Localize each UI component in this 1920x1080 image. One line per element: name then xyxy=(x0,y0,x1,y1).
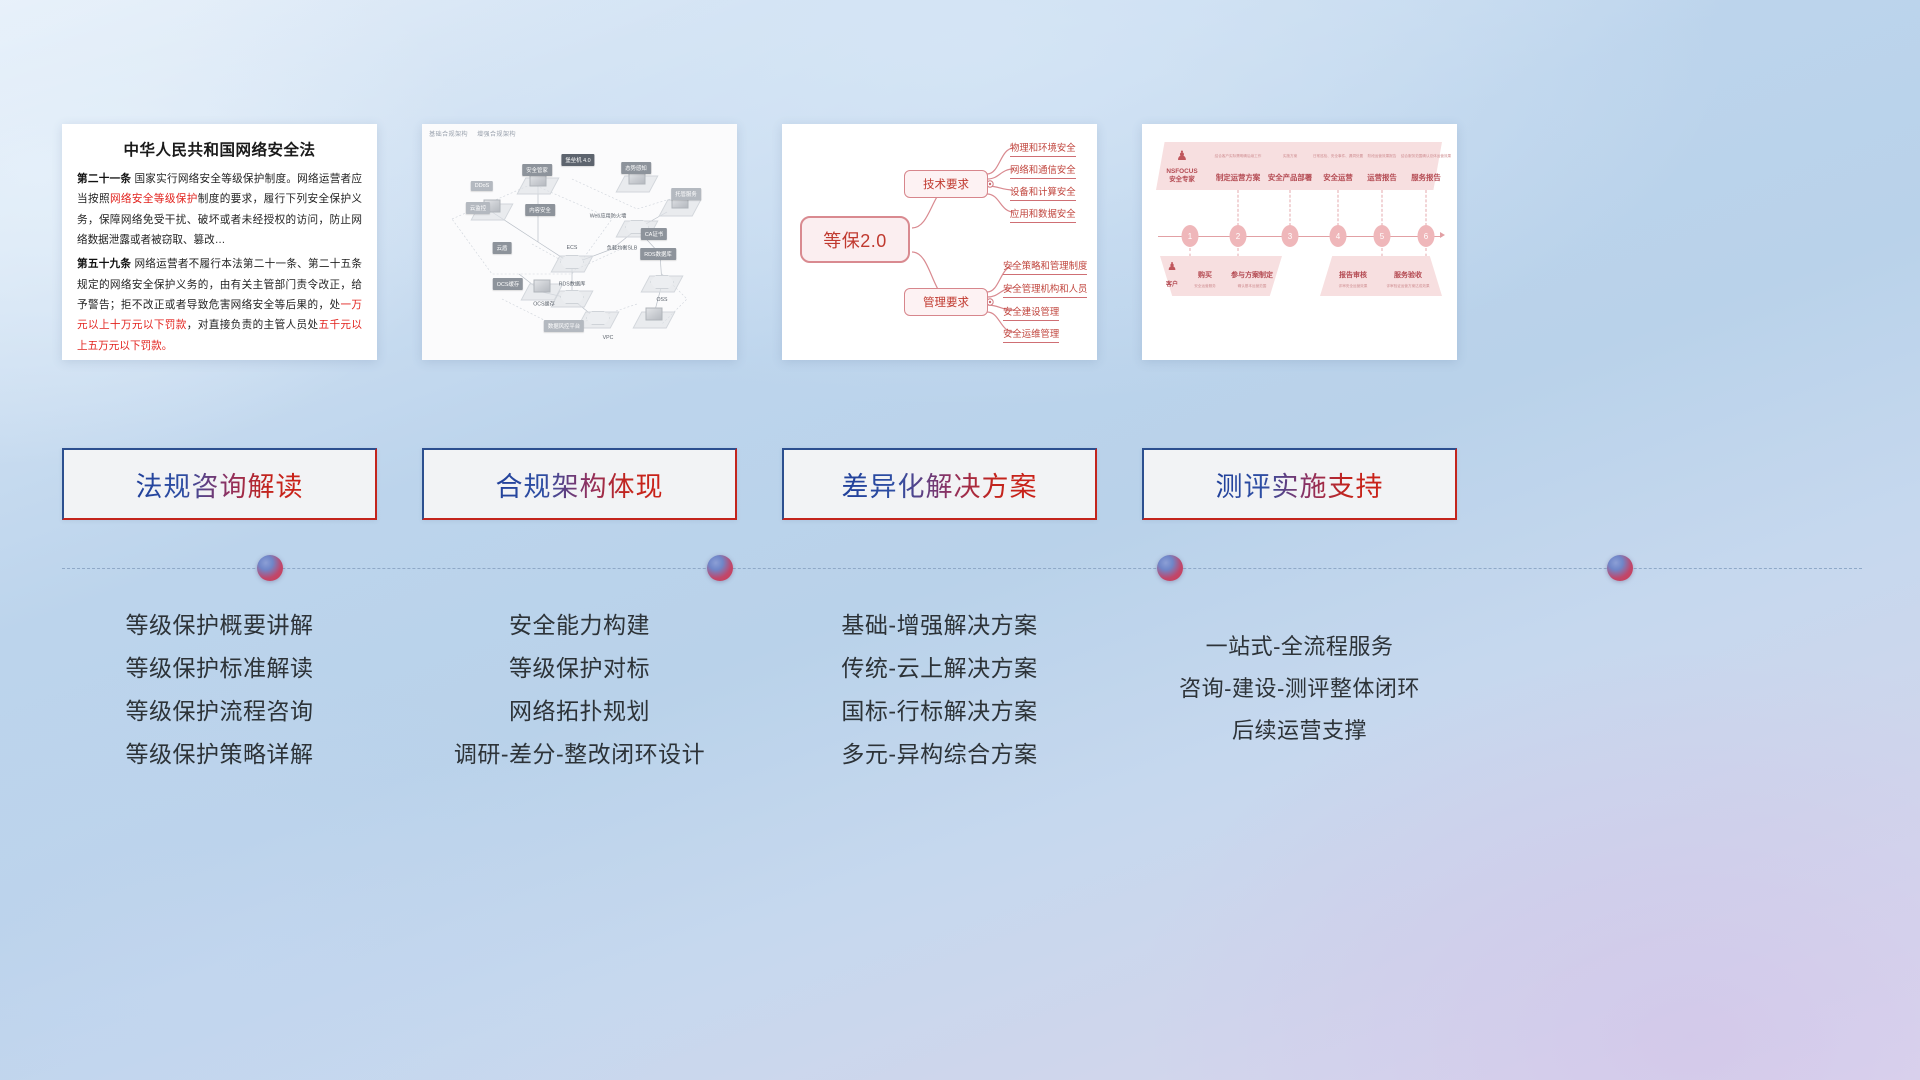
list-item: 等级保护流程咨询 xyxy=(62,690,377,733)
list-item: 基础-增强解决方案 xyxy=(782,604,1097,647)
mindmap-leaf: 安全运维管理 xyxy=(1003,326,1059,343)
list-item: 咨询-建设-测评整体闭环 xyxy=(1142,668,1457,710)
arch-label: Web应用防火墙 xyxy=(590,213,627,220)
step-connector xyxy=(1338,190,1339,226)
customer-step-main: 参与方案制定 xyxy=(1231,270,1273,280)
list-item: 安全能力构建 xyxy=(422,604,737,647)
arch-label: OCS缓存 xyxy=(533,301,555,308)
arch-label: VPC xyxy=(603,335,614,341)
step-connector xyxy=(1382,190,1383,226)
list-item: 国标-行标解决方案 xyxy=(782,690,1097,733)
arch-node: 态势感知 xyxy=(621,162,651,174)
arch-node: 堡垒机 4.0 xyxy=(561,154,594,166)
arch-node: 托管服务 xyxy=(671,188,701,200)
column-differentiated-solution: 基础-增强解决方案 传统-云上解决方案 国标-行标解决方案 多元-异构综合方案 xyxy=(782,604,1097,776)
mindmap-leaf: 设备和计算安全 xyxy=(1010,184,1076,201)
list-item: 调研-差分-整改闭环设计 xyxy=(422,733,737,776)
headline-label: 合规架构体现 xyxy=(496,465,664,504)
arch-cube-icon xyxy=(534,280,551,293)
card-law-text[interactable]: 中华人民共和国网络安全法 第二十一条 国家实行网络安全等级保护制度。网络运营者应… xyxy=(62,124,377,360)
step-main: 运营报告 xyxy=(1367,172,1397,183)
mindmap-leaf: 安全建设管理 xyxy=(1003,304,1059,321)
arch-label: 负载均衡SLB xyxy=(607,245,638,252)
step-main: 服务报告 xyxy=(1411,172,1441,183)
timeline-step-dot[interactable]: 1 xyxy=(1182,225,1199,247)
list-item: 后续运营支撑 xyxy=(1142,710,1457,752)
mindmap-leaf: 应用和数据安全 xyxy=(1010,206,1076,223)
customer-step-sub: 评审安全运营效果 xyxy=(1339,284,1368,289)
customer-step-main: 报告审核 xyxy=(1339,270,1367,280)
law-title: 中华人民共和国网络安全法 xyxy=(77,138,362,160)
arch-label: ECS xyxy=(567,245,578,251)
list-item: 等级保护策略详解 xyxy=(62,733,377,776)
slide-canvas: 中华人民共和国网络安全法 第二十一条 国家实行网络安全等级保护制度。网络运营者应… xyxy=(0,0,1920,1080)
step-main: 制定运营方案 xyxy=(1216,172,1260,183)
step-sub: 结合客户实际需明确后续工作 xyxy=(1215,154,1262,159)
arch-canvas: 堡垒机 4.0 安全管家 DDoS 云监控 态势感知 托管服务 内容安全 云盾 … xyxy=(422,124,737,360)
headline-box-regulation-consulting[interactable]: 法规咨询解读 xyxy=(62,448,377,520)
customer-step-sub: 安全运营服务 xyxy=(1194,284,1216,289)
customer-step-main: 服务验收 xyxy=(1394,270,1422,280)
list-item: 网络拓扑规划 xyxy=(422,690,737,733)
customer-step-main: 购买 xyxy=(1198,270,1212,280)
timeline-axis xyxy=(1158,236,1442,237)
arch-node: CA证书 xyxy=(641,228,667,240)
customer-label: 客户 xyxy=(1166,282,1178,290)
list-item: 等级保护标准解读 xyxy=(62,647,377,690)
column-assessment-support: 一站式-全流程服务 咨询-建设-测评整体闭环 后续运营支撑 xyxy=(1142,604,1457,776)
arch-label: RDS数据库 xyxy=(559,281,586,288)
mindmap-branch-technical: 技术要求 xyxy=(904,170,988,198)
mindmap-leaf: 安全策略和管理制度 xyxy=(1003,258,1087,275)
card-mindmap[interactable]: 等保2.0 技术要求 管理要求 物理和环境安全 网络和通信安全 设备和计算安全 … xyxy=(782,124,1097,360)
bullet-columns: 等级保护概要讲解 等级保护标准解读 等级保护流程咨询 等级保护策略详解 安全能力… xyxy=(62,604,1862,776)
law-article-number: 第二十一条 xyxy=(77,173,131,185)
arch-node: 内容安全 xyxy=(525,204,555,216)
column-regulation-consulting: 等级保护概要讲解 等级保护标准解读 等级保护流程咨询 等级保护策略详解 xyxy=(62,604,377,776)
law-paragraph: 第五十九条 网络运营者不履行本法第二十一条、第二十五条规定的网络安全保护义务的，… xyxy=(77,254,362,356)
card-cloud-architecture[interactable]: 基础合规架构增强合规架构 xyxy=(422,124,737,360)
timeline-step-dot[interactable]: 2 xyxy=(1230,225,1247,247)
headline-boxes-row: 法规咨询解读 合规架构体现 差异化解决方案 测评实施支持 xyxy=(62,448,1862,520)
step-connector xyxy=(1426,190,1427,226)
customer-step-sub: 评审验证运营方案达成效果 xyxy=(1386,284,1429,289)
expert-person-icon: ♟ xyxy=(1176,148,1188,164)
arch-label: OSS xyxy=(657,297,668,303)
headline-box-assessment-support[interactable]: 测评实施支持 xyxy=(1142,448,1457,520)
step-main: 安全运营 xyxy=(1323,172,1353,183)
step-connector xyxy=(1290,190,1291,226)
list-item: 一站式-全流程服务 xyxy=(1142,626,1457,668)
timeline-step-dot[interactable]: 4 xyxy=(1330,225,1347,247)
step-sub: 日常巡检、安全事件、漏洞处置 xyxy=(1313,154,1363,159)
cards-row: 中华人民共和国网络安全法 第二十一条 国家实行网络安全等级保护制度。网络运营者应… xyxy=(62,124,1862,360)
headline-label: 差异化解决方案 xyxy=(842,465,1038,504)
arch-node: RDS数据库 xyxy=(640,248,676,260)
arch-cube-icon xyxy=(646,308,663,321)
arch-node: DDoS xyxy=(471,181,493,191)
arch-node: OCS缓存 xyxy=(493,278,523,290)
headline-box-differentiated-solution[interactable]: 差异化解决方案 xyxy=(782,448,1097,520)
list-item: 等级保护概要讲解 xyxy=(62,604,377,647)
timeline-node-2[interactable] xyxy=(707,555,733,581)
headline-label: 法规咨询解读 xyxy=(136,465,304,504)
brand-name: NSFOCUS 安全专家 xyxy=(1166,168,1197,184)
arch-node: 安全管家 xyxy=(522,164,552,176)
brand-sublabel: 安全专家 xyxy=(1169,176,1195,183)
timeline-arrow-icon xyxy=(1440,232,1445,238)
headline-box-compliance-architecture[interactable]: 合规架构体现 xyxy=(422,448,737,520)
mindmap-leaf: 物理和环境安全 xyxy=(1010,140,1076,157)
step-sub: 实施方案 xyxy=(1283,154,1297,159)
timeline-node-3[interactable] xyxy=(1157,555,1183,581)
timeline-node-4[interactable] xyxy=(1607,555,1633,581)
customer-person-icon: ♟ xyxy=(1167,260,1177,273)
law-seg: ，对直接负责的主管人员处 xyxy=(187,319,319,331)
timeline-step-dot[interactable]: 5 xyxy=(1374,225,1391,247)
timeline-step-dot[interactable]: 6 xyxy=(1418,225,1435,247)
mindmap-leaf: 网络和通信安全 xyxy=(1010,162,1076,179)
step-connector xyxy=(1238,190,1239,226)
timeline-node-1[interactable] xyxy=(257,555,283,581)
list-item: 传统-云上解决方案 xyxy=(782,647,1097,690)
mindmap-root: 等保2.0 xyxy=(800,216,910,263)
arch-node: 云盾 xyxy=(493,242,512,254)
customer-step-sub: 确认基本运营范围 xyxy=(1238,284,1267,289)
law-paragraph: 第二十一条 国家实行网络安全等级保护制度。网络运营者应当按照网络安全等级保护制度… xyxy=(77,169,362,250)
timeline-step-dot[interactable]: 3 xyxy=(1282,225,1299,247)
card-service-timeline[interactable]: ♟ NSFOCUS 安全专家 结合客户实际需明确后续工作 制定运营方案 实施方案… xyxy=(1142,124,1457,360)
list-item: 等级保护对标 xyxy=(422,647,737,690)
column-compliance-architecture: 安全能力构建 等级保护对标 网络拓扑规划 调研-差分-整改闭环设计 xyxy=(422,604,737,776)
brand-label: NSFOCUS xyxy=(1166,168,1197,175)
arch-node: 云监控 xyxy=(466,202,490,214)
mindmap-branch-management: 管理要求 xyxy=(904,288,988,316)
progress-timeline-line xyxy=(62,568,1862,569)
step-main: 安全产品部署 xyxy=(1268,172,1312,183)
arch-node: 数据风控平台 xyxy=(544,320,584,332)
headline-label: 测评实施支持 xyxy=(1216,465,1384,504)
list-item: 多元-异构综合方案 xyxy=(782,733,1097,776)
law-seg-highlight: 网络安全等级保护 xyxy=(110,193,198,205)
law-article-number: 第五十九条 xyxy=(77,258,131,270)
step-sub: 结合服务范围确认总体运营效果 xyxy=(1401,154,1451,159)
step-sub: 阶段运营效果报告 xyxy=(1368,154,1397,159)
mindmap-leaf: 安全管理机构和人员 xyxy=(1003,281,1087,298)
